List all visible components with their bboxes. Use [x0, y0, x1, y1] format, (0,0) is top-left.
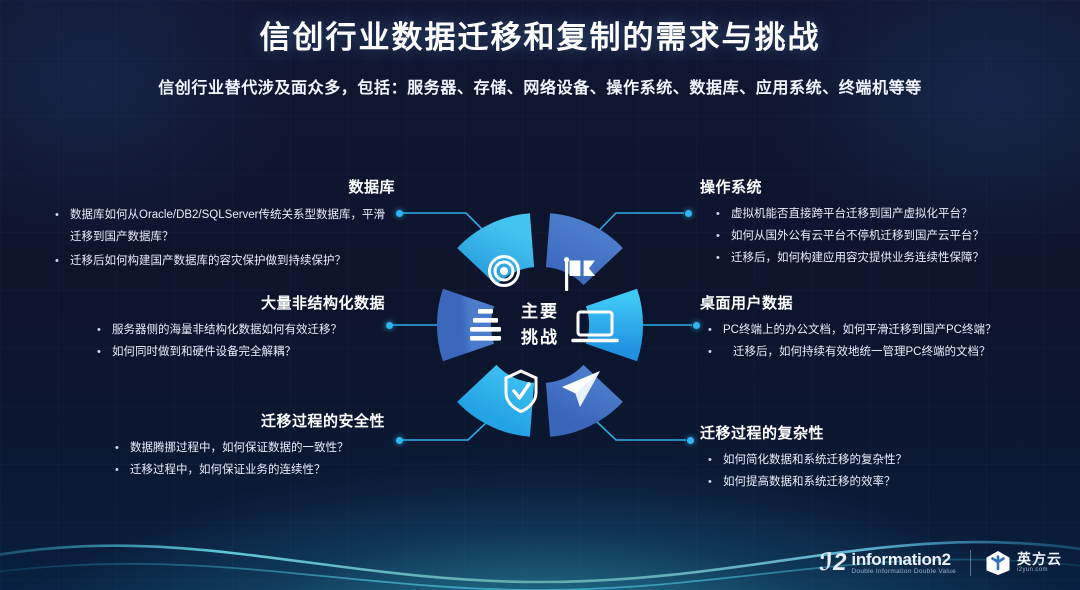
list-item: 如何同时做到和硬件设备完全解耦？ [97, 342, 385, 362]
block-unstructured-heading: 大量非结构化数据 [75, 292, 385, 313]
list-item: 迁移后，如何持续有效地统一管理PC终端的文档？ [708, 342, 1070, 362]
block-database: 数据库 数据库如何从Oracle/DB2/SQLServer传统关系型数据库，平… [55, 176, 395, 274]
connector-dot-complexity [687, 437, 694, 444]
block-security: 迁移过程的安全性 数据腾挪过程中，如何保证数据的一致性？ 迁移过程中，如何保证业… [85, 410, 385, 482]
logo-i2-tagline: Double Information Double Value [851, 569, 956, 576]
footer-logos: ℐ2 information2 Double Information Doubl… [819, 550, 1062, 576]
connector-dot-desktop [693, 322, 700, 329]
block-database-heading: 数据库 [55, 176, 395, 197]
block-unstructured-list: 服务器侧的海量非结构化数据如何有效迁移？ 如何同时做到和硬件设备完全解耦？ [75, 320, 385, 362]
list-item: 迁移后如何构建国产数据库的容灾保护做到持续保护？ [55, 250, 395, 272]
block-os-heading: 操作系统 [700, 176, 1060, 197]
block-complexity-heading: 迁移过程的复杂性 [700, 422, 1060, 443]
logo-i2-name: information2 [851, 551, 956, 569]
list-item: 迁移过程中，如何保证业务的连续性？ [115, 460, 385, 480]
segment-left-petal [464, 298, 469, 353]
block-security-heading: 迁移过程的安全性 [85, 410, 385, 431]
list-item: 如何从国外公有云平台不停机迁移到国产云平台？ [716, 226, 1060, 246]
slide-canvas: 信创行业数据迁移和复制的需求与挑战 信创行业替代涉及面众多，包括：服务器、存储、… [0, 0, 1080, 590]
page-title: 信创行业数据迁移和复制的需求与挑战 [0, 12, 1080, 57]
list-item: 如何简化数据和系统迁移的复杂性？ [708, 450, 1060, 470]
logo-yingfangyun: 英方云 i2yun.com [985, 550, 1062, 576]
block-desktop-list: PC终端上的办公文档，如何平滑迁移到国产PC终端？ 迁移后，如何持续有效地统一管… [700, 320, 1070, 362]
block-complexity: 迁移过程的复杂性 如何简化数据和系统迁移的复杂性？ 如何提高数据和系统迁移的效率… [700, 422, 1060, 494]
connector-dot-database [396, 210, 403, 217]
segment-bottom-left-petal [477, 383, 532, 409]
connector-dot-os [685, 210, 692, 217]
list-item: 数据库如何从Oracle/DB2/SQLServer传统关系型数据库，平滑迁移到… [55, 204, 395, 248]
list-item: 服务器侧的海量非结构化数据如何有效迁移？ [97, 320, 385, 340]
block-security-list: 数据腾挪过程中，如何保证数据的一致性？ 迁移过程中，如何保证业务的连续性？ [85, 438, 385, 480]
target-icon [490, 257, 519, 286]
logo-yf-tagline: i2yun.com [1017, 567, 1062, 574]
block-desktop-heading: 桌面用户数据 [700, 292, 1070, 313]
block-unstructured: 大量非结构化数据 服务器侧的海量非结构化数据如何有效迁移？ 如何同时做到和硬件设… [75, 292, 385, 364]
list-item: PC终端上的办公文档，如何平滑迁移到国产PC终端？ [708, 320, 1070, 340]
list-item: 虚拟机能否直接跨平台迁移到国产虚拟化平台？ [716, 204, 1060, 224]
footer-divider [970, 550, 971, 576]
logo-yf-name: 英方云 [1017, 552, 1062, 567]
block-os: 操作系统 虚拟机能否直接跨平台迁移到国产虚拟化平台？ 如何从国外公有云平台不停机… [700, 176, 1060, 270]
block-os-list: 虚拟机能否直接跨平台迁移到国产虚拟化平台？ 如何从国外公有云平台不停机迁移到国产… [700, 204, 1060, 268]
block-database-list: 数据库如何从Oracle/DB2/SQLServer传统关系型数据库，平滑迁移到… [55, 204, 395, 272]
connector-dot-unstructured [386, 322, 393, 329]
block-complexity-list: 如何简化数据和系统迁移的复杂性？ 如何提高数据和系统迁移的效率？ [700, 450, 1060, 492]
main-challenges-donut [425, 196, 655, 454]
list-item: 迁移后，如何构建应用容灾提供业务连续性保障？ [716, 248, 1060, 268]
list-item: 数据腾挪过程中，如何保证数据的一致性？ [115, 438, 385, 458]
i2-mark-icon: ℐ2 [819, 551, 847, 575]
list-item: 如何提高数据和系统迁移的效率？ [708, 472, 1060, 492]
page-subtitle: 信创行业替代涉及面众多，包括：服务器、存储、网络设备、操作系统、数据库、应用系统… [0, 74, 1080, 98]
connector-dot-security [396, 437, 403, 444]
yingfang-mark-icon [985, 550, 1011, 576]
block-desktop: 桌面用户数据 PC终端上的办公文档，如何平滑迁移到国产PC终端？ 迁移后，如何持… [700, 292, 1070, 364]
logo-information2: ℐ2 information2 Double Information Doubl… [819, 551, 956, 576]
